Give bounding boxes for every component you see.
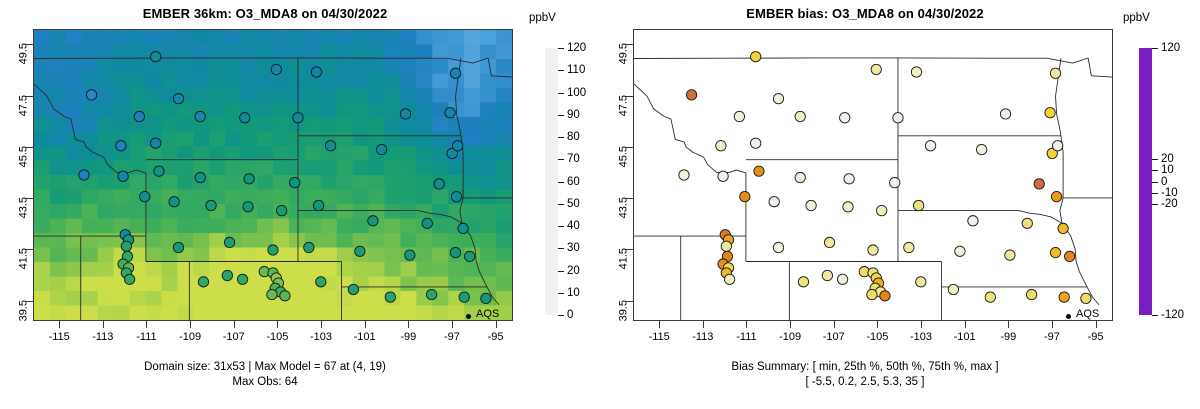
colorbar-tick (1152, 48, 1158, 49)
y-axis-bias: 49.547.545.543.541.539.5 (600, 29, 633, 321)
x-axis-tick (1008, 321, 1009, 328)
x-axis-tick (921, 321, 922, 328)
colorbar-gradient-model (545, 48, 558, 315)
x-axis-label: -95 (488, 331, 504, 343)
y-axis-label: 43.5 (617, 197, 629, 218)
colorbar-tick (558, 204, 564, 205)
x-axis-label: -103 (910, 331, 932, 343)
colorbar-tick-label: 110 (567, 64, 585, 76)
x-axis-label: -109 (779, 331, 801, 343)
colorbar-tick-label: 10 (567, 287, 580, 299)
x-axis-tick (146, 321, 147, 328)
x-axis-label: -111 (136, 331, 156, 343)
y-axis-model: 49.547.545.543.541.539.5 (0, 29, 33, 321)
x-axis-tick (965, 321, 966, 328)
x-axis-model: -115-113-111-109-107-105-103-101-99-97-9… (33, 321, 513, 349)
colorbar-tick (558, 48, 564, 49)
colorbar-tick (558, 271, 564, 272)
x-axis-label: -105 (266, 331, 288, 343)
x-axis-tick (190, 321, 191, 328)
x-axis-tick (790, 321, 791, 328)
colorbar-tick-label: 70 (567, 153, 580, 165)
caption-line-1: Domain size: 31x53 | Max Model = 67 at (… (0, 360, 530, 375)
caption-bias: Bias Summary: [ min, 25th %, 50th %, 75t… (600, 360, 1130, 390)
x-axis-label: -101 (954, 331, 976, 343)
colorbar-ticks-model: 0102030405060708090100110120 (558, 48, 606, 315)
x-axis-tick (321, 321, 322, 328)
colorbar-gradient-bias (1139, 48, 1152, 315)
colorbar-tick-label: 120 (1161, 42, 1180, 54)
colorbar-tick-label: 80 (567, 131, 580, 143)
x-axis-label: -115 (49, 331, 70, 343)
x-axis-tick (59, 321, 60, 328)
y-axis-label: 43.5 (17, 197, 29, 218)
station-markers-bias (634, 30, 1112, 320)
panel-title-bias: EMBER bias: O3_MDA8 on 04/30/2022 (600, 6, 1130, 21)
x-axis-label: -107 (223, 331, 245, 343)
y-axis-label: 45.5 (617, 146, 629, 167)
aqs-legend-label-bias: AQS (1076, 308, 1099, 320)
colorbar-unit-bias: ppbV (1123, 12, 1150, 24)
x-axis-tick (703, 321, 704, 328)
x-axis-bias: -115-113-111-109-107-105-103-101-99-97-9… (633, 321, 1113, 349)
colorbar-tick (558, 293, 564, 294)
colorbar-tick (1152, 193, 1158, 194)
y-axis-label: 47.5 (617, 95, 629, 116)
x-axis-label: -105 (866, 331, 888, 343)
colorbar-tick-label: -10 (1161, 187, 1178, 199)
colorbar-tick-label: -20 (1161, 198, 1178, 210)
y-axis-label: 49.5 (17, 43, 29, 64)
caption-line-2: Max Obs: 64 (0, 375, 530, 390)
x-axis-tick (103, 321, 104, 328)
map-plot-bias: AQS (633, 29, 1113, 321)
colorbar-tick-label: 50 (567, 198, 580, 210)
y-axis-label: 47.5 (17, 95, 29, 116)
x-axis-label: -115 (649, 331, 670, 343)
caption-line-1: Bias Summary: [ min, 25th %, 50th %, 75t… (600, 360, 1130, 375)
colorbar-tick (1152, 204, 1158, 205)
colorbar-tick (558, 115, 564, 116)
colorbar-tick-label: 100 (567, 87, 586, 99)
aqs-legend-dot-model (466, 314, 471, 319)
x-axis-label: -113 (692, 331, 713, 343)
colorbar-tick (558, 159, 564, 160)
x-axis-label: -99 (400, 331, 416, 343)
x-axis-label: -113 (92, 331, 113, 343)
colorbar-tick-label: 90 (567, 109, 580, 121)
station-markers-model (34, 30, 512, 320)
colorbar-tick-label: 120 (567, 42, 586, 54)
x-axis-tick (408, 321, 409, 328)
y-axis-label: 39.5 (17, 300, 29, 321)
panel-bias: EMBER bias: O3_MDA8 on 04/30/2022 AQS 49… (600, 0, 1200, 409)
y-axis-label: 49.5 (617, 43, 629, 64)
x-axis-tick (234, 321, 235, 328)
x-axis-label: -109 (179, 331, 201, 343)
x-axis-tick (452, 321, 453, 328)
colorbar-tick-label: -120 (1161, 309, 1184, 321)
y-axis-label: 41.5 (617, 248, 629, 269)
colorbar-tick (558, 315, 564, 316)
x-axis-tick (365, 321, 366, 328)
colorbar-tick (1152, 315, 1158, 316)
colorbar-unit-model: ppbV (529, 12, 556, 24)
colorbar-tick (1152, 159, 1158, 160)
y-axis-label: 41.5 (17, 248, 29, 269)
colorbar-tick-label: 20 (567, 265, 580, 277)
x-axis-label: -111 (736, 331, 756, 343)
map-plot-model: AQS (33, 29, 513, 321)
aqs-legend-dot-bias (1066, 314, 1071, 319)
panel-model: EMBER 36km: O3_MDA8 on 04/30/2022 AQS 49… (0, 0, 600, 409)
colorbar-tick-label: 20 (1161, 153, 1174, 165)
x-axis-tick (277, 321, 278, 328)
x-axis-label: -99 (1000, 331, 1016, 343)
x-axis-tick (746, 321, 747, 328)
panel-title-model: EMBER 36km: O3_MDA8 on 04/30/2022 (0, 6, 530, 21)
x-axis-label: -97 (444, 331, 460, 343)
colorbar-tick-label: 0 (1161, 176, 1167, 188)
x-axis-tick (496, 321, 497, 328)
x-axis-tick (1052, 321, 1053, 328)
colorbar-tick-label: 30 (567, 242, 580, 254)
colorbar-tick (558, 70, 564, 71)
colorbar-ticks-bias: -120-20-1001020120 (1152, 48, 1200, 315)
x-axis-label: -95 (1088, 331, 1104, 343)
colorbar-tick (558, 226, 564, 227)
x-axis-tick (659, 321, 660, 328)
y-axis-label: 39.5 (617, 300, 629, 321)
colorbar-tick (558, 248, 564, 249)
colorbar-tick (1152, 182, 1158, 183)
colorbar-tick (1152, 170, 1158, 171)
caption-model: Domain size: 31x53 | Max Model = 67 at (… (0, 360, 530, 390)
aqs-legend-label-model: AQS (476, 308, 499, 320)
x-axis-label: -97 (1044, 331, 1060, 343)
x-axis-label: -103 (310, 331, 332, 343)
x-axis-tick (1096, 321, 1097, 328)
figure-root: EMBER 36km: O3_MDA8 on 04/30/2022 AQS 49… (0, 0, 1200, 409)
x-axis-label: -101 (354, 331, 376, 343)
colorbar-tick (558, 182, 564, 183)
colorbar-tick-label: 0 (567, 309, 573, 321)
colorbar-tick-label: 60 (567, 176, 580, 188)
x-axis-label: -107 (823, 331, 845, 343)
colorbar-tick-label: 10 (1161, 164, 1174, 176)
colorbar-tick (558, 93, 564, 94)
colorbar-tick-label: 40 (567, 220, 580, 232)
x-axis-tick (877, 321, 878, 328)
y-axis-label: 45.5 (17, 146, 29, 167)
caption-line-2: [ -5.5, 0.2, 2.5, 5.3, 35 ] (600, 375, 1130, 390)
colorbar-tick (558, 137, 564, 138)
x-axis-tick (834, 321, 835, 328)
